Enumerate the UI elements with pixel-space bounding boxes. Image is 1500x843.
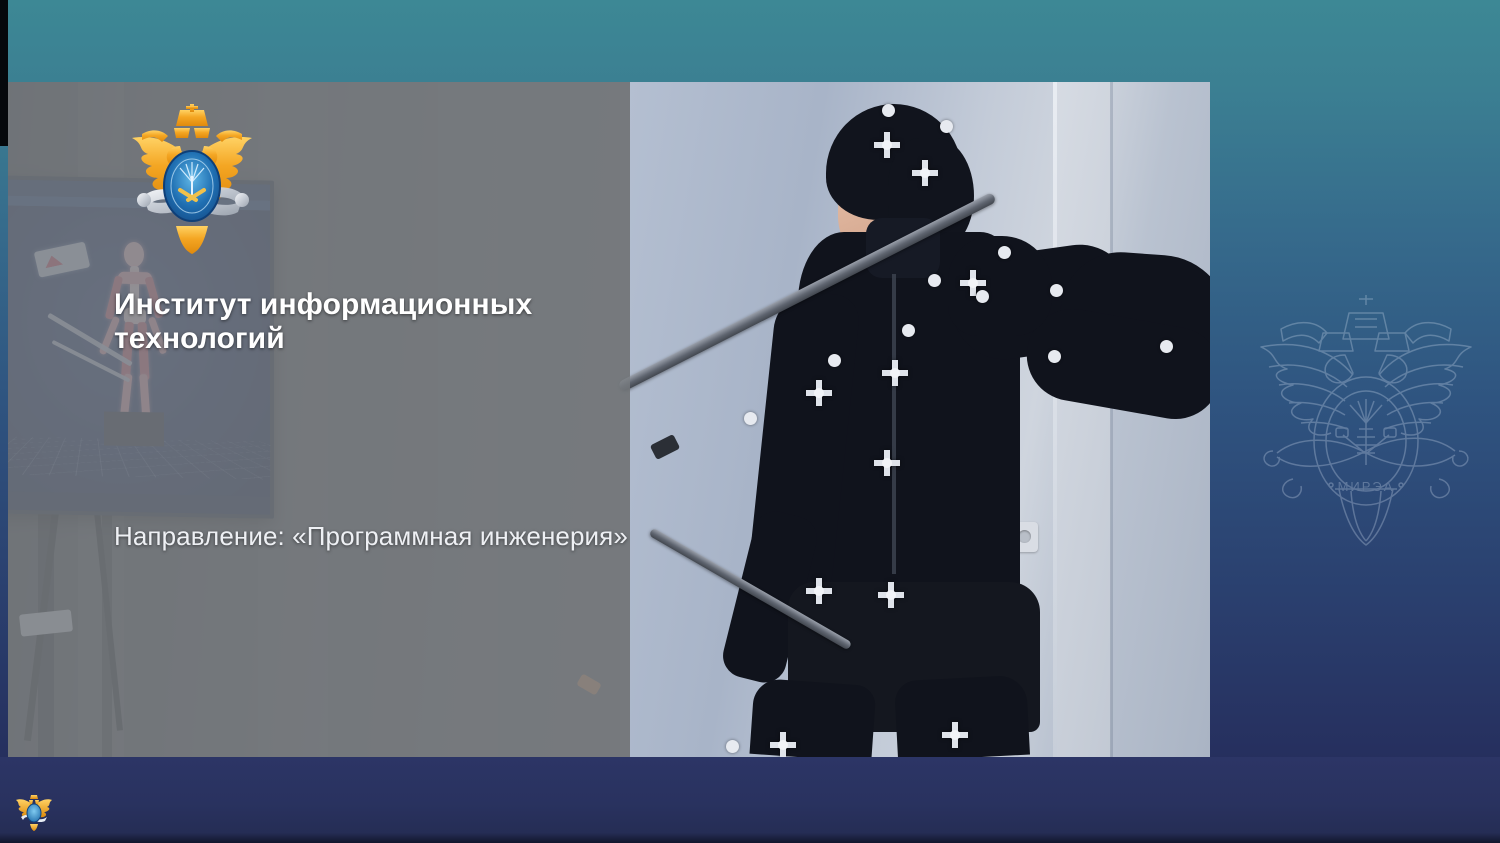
- slide-title: Институт информационных технологий: [114, 288, 654, 356]
- screen-stage: Институт информационных технологий Напра…: [0, 0, 1500, 843]
- mocap-marker-chest: [882, 360, 908, 386]
- mocap-marker-arm-l: [806, 380, 832, 406]
- mocap-marker-knee: [726, 740, 739, 753]
- mocap-performer: [630, 82, 1210, 758]
- mocap-marker-clavicle: [928, 274, 941, 287]
- performer-left-leg: [749, 678, 876, 758]
- background-watermark-emblem-icon: МИРЭА: [1235, 283, 1497, 555]
- mocap-marker-head-1: [874, 132, 900, 158]
- mocap-marker-hip-l: [806, 578, 832, 604]
- slide-subtitle: Направление: «Программная инженерия»: [114, 521, 654, 552]
- mocap-pole-tip: [650, 434, 680, 460]
- rtu-mirea-emblem-icon: [118, 104, 266, 264]
- mocap-marker-forearm: [1048, 350, 1061, 363]
- mocap-marker-pole-b: [744, 412, 757, 425]
- mocap-marker-thigh-r: [942, 722, 968, 748]
- mocap-marker-head-2: [912, 160, 938, 186]
- watermark-center-text: МИРЭА: [1338, 479, 1395, 494]
- left-edge-black-strip: [0, 0, 8, 146]
- footer-band: [0, 757, 1500, 843]
- mocap-marker-pole-a: [828, 354, 841, 367]
- suit-zipper: [892, 274, 896, 574]
- title-panel-scrim: [8, 82, 630, 758]
- mocap-marker-pole-c: [902, 324, 915, 337]
- mocap-marker-hand-1: [998, 246, 1011, 259]
- footer-emblem-icon[interactable]: [14, 792, 54, 832]
- mocap-marker-head-side: [940, 120, 953, 133]
- mocap-marker-head-top: [882, 104, 895, 117]
- mocap-marker-hip-r: [878, 582, 904, 608]
- mocap-marker-sternum: [874, 450, 900, 476]
- mocap-marker-hand-2: [1050, 284, 1063, 297]
- mocap-marker-hand-3: [976, 290, 989, 303]
- mocap-marker-elbow: [1160, 340, 1173, 353]
- presentation-slide[interactable]: Институт информационных технологий Напра…: [8, 82, 1210, 758]
- mocap-marker-thigh-l: [770, 732, 796, 758]
